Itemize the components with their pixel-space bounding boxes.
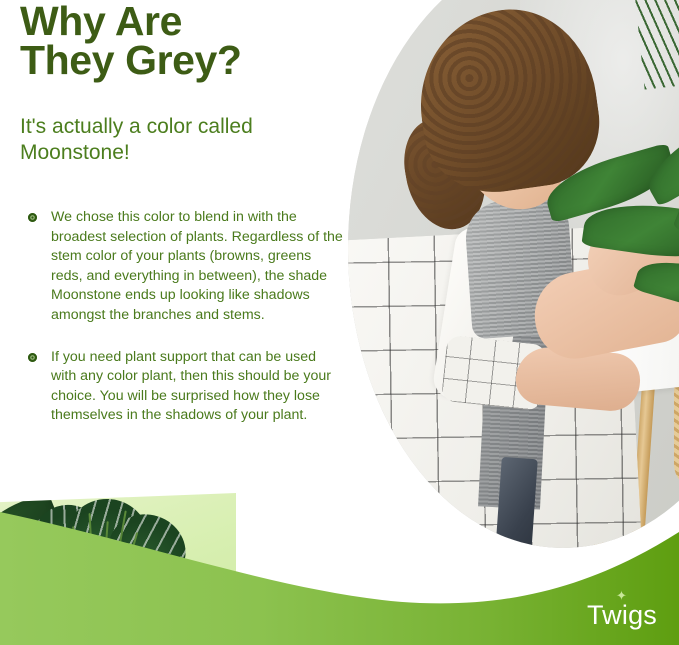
bullet-list: We chose this color to blend in with the… [22, 208, 344, 448]
brand-logo: Twigs [587, 600, 657, 631]
subheading: It's actually a color called Moonstone! [20, 114, 340, 165]
headline-line-2: They Grey? [20, 41, 350, 80]
headline-line-1: Why Are [20, 2, 350, 41]
list-item-text: If you need plant support that can be us… [51, 348, 344, 426]
poster-page: Why Are They Grey? It's actually a color… [0, 0, 679, 645]
ring-bullet-icon [28, 353, 37, 362]
page-title: Why Are They Grey? [20, 2, 350, 81]
list-item-text: We chose this color to blend in with the… [51, 208, 344, 326]
woman-holding-peace-lily-photo [348, 0, 679, 548]
green-wave-band [0, 470, 679, 645]
ring-bullet-icon [28, 213, 37, 222]
list-item: If you need plant support that can be us… [22, 348, 344, 426]
list-item: We chose this color to blend in with the… [22, 208, 344, 326]
